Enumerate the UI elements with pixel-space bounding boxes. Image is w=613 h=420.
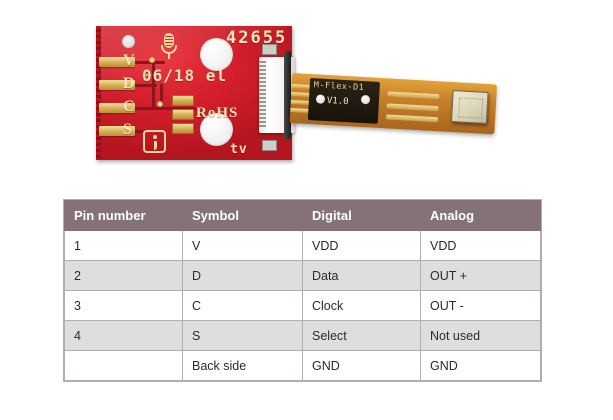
cell-digital: GND — [303, 351, 421, 381]
pcb-left-edge — [96, 26, 101, 160]
test-pad — [172, 109, 194, 120]
cell-symbol: D — [183, 261, 303, 291]
cell-symbol: S — [183, 321, 303, 351]
board-date-code: 06/18 el — [142, 66, 227, 85]
cell-analog: GND — [421, 351, 541, 381]
pin-label-c: C — [123, 98, 136, 116]
pin-assignment-table: Pin number Symbol Digital Analog 1 V VDD… — [64, 200, 541, 381]
rohs-mark: RoHS — [196, 105, 238, 122]
column-header-digital: Digital — [303, 201, 421, 231]
cell-symbol: C — [183, 291, 303, 321]
column-header-analog: Analog — [421, 201, 541, 231]
cell-symbol: V — [183, 231, 303, 261]
table-row: 4 S Select Not used — [65, 321, 541, 351]
infineon-logo — [143, 130, 166, 153]
column-header-pin-number: Pin number — [65, 201, 183, 231]
pin-label-s: S — [123, 121, 133, 139]
cell-pin-number: 3 — [65, 291, 183, 321]
cell-digital: VDD — [303, 231, 421, 261]
mounting-hole-small — [122, 35, 135, 48]
cell-analog: Not used — [421, 321, 541, 351]
microphone-icon — [161, 33, 177, 59]
pin-label-d: D — [123, 75, 136, 93]
cell-digital: Select — [303, 321, 421, 351]
cell-pin-number: 1 — [65, 231, 183, 261]
cell-pin-number — [65, 351, 183, 381]
cell-analog: OUT + — [421, 261, 541, 291]
fpc-connector-latch — [284, 51, 291, 139]
column-header-symbol: Symbol — [183, 201, 303, 231]
cell-analog: OUT - — [421, 291, 541, 321]
table-row: 2 D Data OUT + — [65, 261, 541, 291]
cell-digital: Clock — [303, 291, 421, 321]
cell-analog: VDD — [421, 231, 541, 261]
table-row: 1 V VDD VDD — [65, 231, 541, 261]
table-row: Back side GND GND — [65, 351, 541, 381]
table-header-row: Pin number Symbol Digital Analog — [65, 201, 541, 231]
tv-mark: tv — [230, 142, 248, 157]
test-pad — [172, 123, 194, 134]
cell-digital: Data — [303, 261, 421, 291]
fpc-connector-tab — [262, 44, 277, 55]
product-photo: 42655 06/18 el RoHS tv V D C S M-Flex-D1… — [0, 0, 613, 190]
board-part-number: 42655 — [226, 28, 287, 48]
cell-pin-number: 2 — [65, 261, 183, 291]
fpc-connector-tab — [262, 140, 277, 151]
flex-version-label: V1.0 — [327, 96, 349, 107]
pcb-via — [157, 101, 163, 107]
flex-cable: M-Flex-D1 V1.0 — [290, 73, 497, 134]
pcb-via — [149, 57, 155, 63]
cell-symbol: Back side — [183, 351, 303, 381]
table-row: 3 C Clock OUT - — [65, 291, 541, 321]
pin-label-v: V — [123, 52, 136, 70]
mems-microphone-package — [451, 90, 489, 124]
cell-pin-number: 4 — [65, 321, 183, 351]
pcb-trace — [135, 130, 143, 133]
test-pad — [172, 95, 194, 106]
